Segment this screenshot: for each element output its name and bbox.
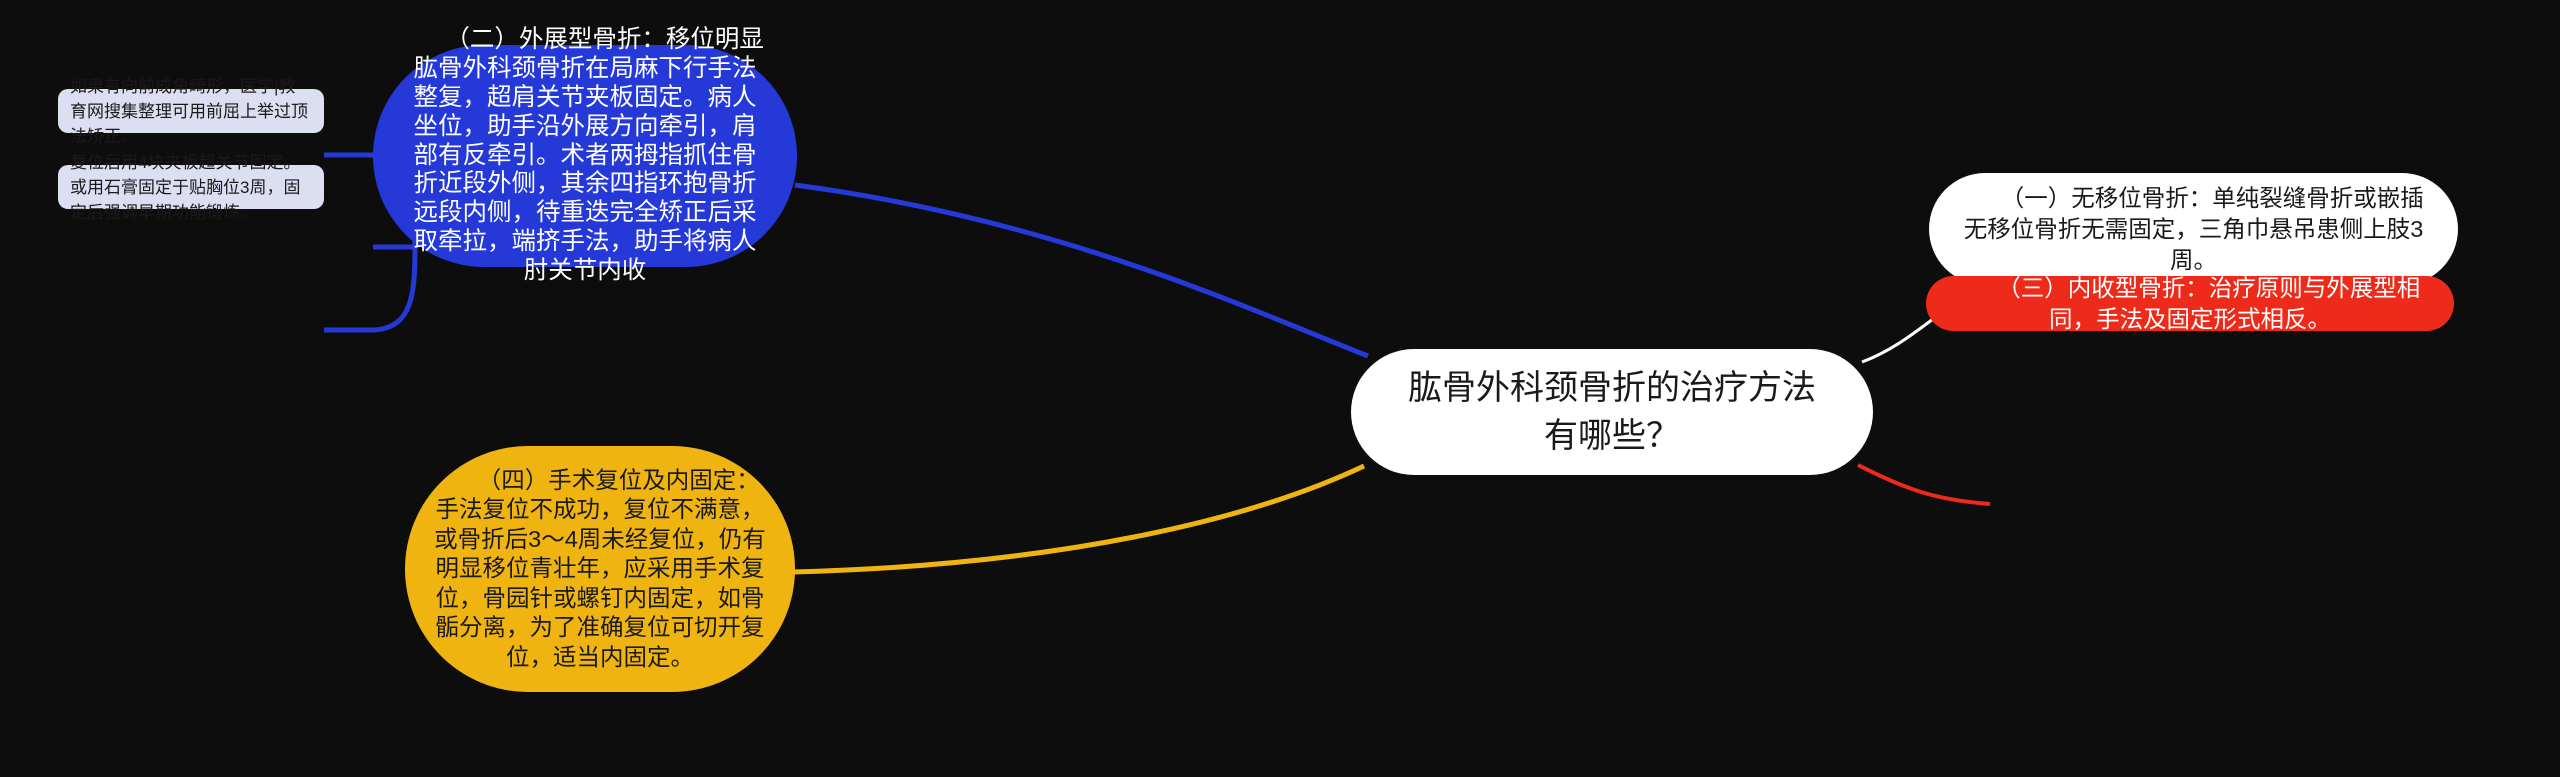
- leaf-node-fixation-label: 复位后用4块夹板超关节固定。或用石膏固定于贴胸位3周，固定后强调早期功能锻炼。: [70, 150, 312, 225]
- connector-abduction-to-leaf-fixation: [324, 247, 415, 330]
- branch-node-adduction-label: （三）内收型骨折：治疗原则与外展型相同，手法及固定形式相反。: [1956, 273, 2424, 335]
- branch-node-no-displacement[interactable]: （一）无移位骨折：单纯裂缝骨折或嵌插无移位骨折无需固定，三角巾悬吊患侧上肢3周。: [1929, 173, 2458, 285]
- branch-node-adduction[interactable]: （三）内收型骨折：治疗原则与外展型相同，手法及固定形式相反。: [1926, 276, 2454, 331]
- root-node[interactable]: 肱骨外科颈骨折的治疗方法有哪些？: [1351, 349, 1873, 475]
- connector-root-to-adduction: [1858, 465, 1990, 504]
- connector-root-to-abduction: [795, 185, 1368, 356]
- leaf-node-angulation[interactable]: 如果有向前成角畸形，医学|教育网搜集整理可用前屈上举过顶法矫正。: [58, 89, 324, 133]
- connector-root-to-surgical: [793, 466, 1364, 572]
- mindmap-canvas: 如果有向前成角畸形，医学|教育网搜集整理可用前屈上举过顶法矫正。 复位后用4块夹…: [0, 0, 2560, 777]
- leaf-node-fixation[interactable]: 复位后用4块夹板超关节固定。或用石膏固定于贴胸位3周，固定后强调早期功能锻炼。: [58, 165, 324, 209]
- branch-node-abduction[interactable]: （二）外展型骨折：移位明显肱骨外科颈骨折在局麻下行手法整复，超肩关节夹板固定。病…: [373, 45, 797, 267]
- branch-node-surgical[interactable]: （四）手术复位及内固定：手法复位不成功，复位不满意，或骨折后3～4周未经复位，仍…: [405, 446, 795, 692]
- branch-node-no-displacement-label: （一）无移位骨折：单纯裂缝骨折或嵌插无移位骨折无需固定，三角巾悬吊患侧上肢3周。: [1963, 183, 2424, 276]
- branch-node-surgical-label: （四）手术复位及内固定：手法复位不成功，复位不满意，或骨折后3～4周未经复位，仍…: [433, 466, 767, 673]
- root-node-label: 肱骨外科颈骨折的治疗方法有哪些？: [1405, 364, 1819, 460]
- leaf-node-angulation-label: 如果有向前成角畸形，医学|教育网搜集整理可用前屈上举过顶法矫正。: [70, 74, 312, 149]
- branch-node-abduction-label: （二）外展型骨折：移位明显肱骨外科颈骨折在局麻下行手法整复，超肩关节夹板固定。病…: [403, 26, 767, 285]
